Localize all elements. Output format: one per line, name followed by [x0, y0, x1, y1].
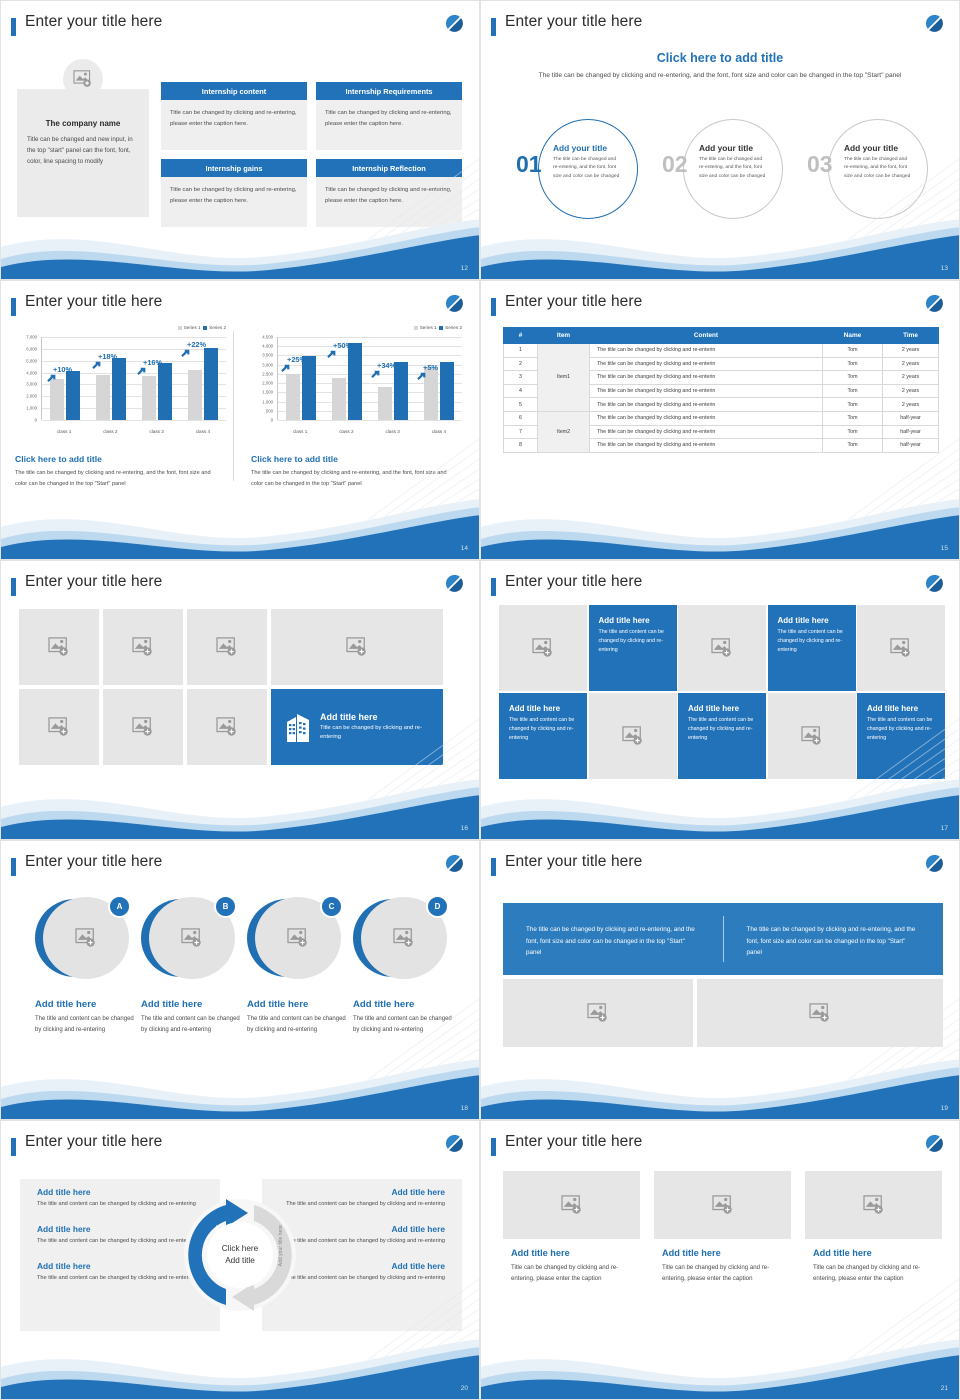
brand-logo-icon	[924, 573, 945, 594]
cta-title: Add title here	[320, 712, 429, 722]
media-card-3[interactable]: Add title hereTitle can be changed by cl…	[805, 1171, 942, 1285]
chart-2-heading: Click here to add title	[251, 454, 338, 464]
x-tick: class 2	[323, 429, 369, 434]
y-tick: 4,500	[262, 335, 273, 340]
cell-content: The title can be changed by clicking and…	[590, 425, 823, 439]
info-card-internship-content[interactable]: Internship content Title can be changed …	[161, 82, 307, 150]
cell-name: Tom	[823, 398, 883, 412]
slide-header: Enter your title here	[491, 1135, 945, 1161]
title-accent-bar	[491, 1138, 496, 1156]
image-placeholder-icon	[587, 1003, 609, 1023]
brand-logo-icon	[444, 293, 465, 314]
footer-wave	[481, 1337, 960, 1399]
bar-chart-2: Series 1 Series 2 0 500 1,000 1,500 2,00…	[251, 327, 466, 442]
bar-group	[278, 337, 324, 420]
image-placeholder-icon	[216, 717, 238, 737]
col-content: Content	[590, 328, 823, 344]
image-placeholder-icon	[809, 1003, 831, 1023]
trend-arrow-icon	[47, 374, 58, 383]
tile-title: Add title here	[867, 704, 935, 713]
image-placeholder[interactable]	[805, 1171, 942, 1239]
table-row[interactable]: 1Item1The title can be changed by clicki…	[504, 344, 939, 358]
y-tick: 7,000	[26, 335, 37, 340]
image-placeholder-right[interactable]	[697, 979, 943, 1047]
checkerboard-grid: Add title hereThe title and content can …	[499, 605, 945, 779]
card-text: Add title hereTitle can be changed by cl…	[654, 1239, 791, 1285]
arc-label-left: Add your title here	[215, 1225, 221, 1266]
info-card-internship-requirements[interactable]: Internship Requirements Title can be cha…	[316, 82, 462, 150]
cell-content: The title can be changed by clicking and…	[590, 344, 823, 358]
slide-13[interactable]: Enter your title here Click here to add …	[480, 0, 960, 280]
slide-header: Enter your title here	[491, 15, 945, 41]
footer-wave	[1, 777, 480, 839]
y-tick: 0	[35, 418, 37, 423]
caption-title: Add title here	[35, 999, 135, 1010]
footer-wave	[1, 497, 480, 559]
y-tick: 0	[271, 418, 273, 423]
card-header: Internship content	[161, 82, 307, 100]
image-placeholder-icon	[132, 637, 154, 657]
slide-header: Enter your title here	[11, 15, 465, 41]
card-body: Title can be changed by clicking and re-…	[511, 1262, 632, 1285]
arc-label-right: Add your title here	[278, 1225, 284, 1266]
y-tick: 1,000	[26, 406, 37, 411]
cell-index: 7	[504, 425, 538, 439]
trend-arrow-icon	[281, 364, 292, 373]
brand-logo-icon	[444, 573, 465, 594]
annotation-4: +22%	[187, 340, 206, 349]
cell-time: half-year	[883, 411, 939, 425]
slide-14[interactable]: Enter your title here Series 1 Series 2 …	[0, 280, 480, 560]
cell-time: 2 years	[883, 357, 939, 371]
image-placeholder-icon	[622, 726, 644, 746]
slide-15[interactable]: Enter your title here # Item Content Nam…	[480, 280, 960, 560]
table-row[interactable]: 6Item2The title can be changed by clicki…	[504, 411, 939, 425]
image-placeholder-icon	[393, 928, 415, 948]
circle-item-a[interactable]: A	[35, 897, 135, 979]
slide-header: Enter your title here	[491, 855, 945, 881]
image-placeholder[interactable]	[103, 689, 183, 765]
trend-arrow-icon	[327, 350, 338, 359]
trend-arrow-icon	[417, 372, 428, 381]
cell-content: The title can be changed by clicking and…	[590, 439, 823, 453]
slide-number: 12	[461, 265, 468, 272]
y-axis-2: 0 500 1,000 1,500 2,000 2,500 3,000 3,50…	[251, 337, 275, 420]
title-accent-bar	[11, 298, 16, 316]
content-tile[interactable]: Add title hereThe title and content can …	[678, 693, 766, 779]
image-placeholder[interactable]	[187, 689, 267, 765]
chart-1-heading: Click here to add title	[15, 454, 102, 464]
x-tick: class 4	[416, 429, 462, 434]
image-placeholder[interactable]	[499, 605, 587, 691]
step-number-03: 03	[807, 153, 833, 176]
annotation-3: +34%	[377, 361, 396, 370]
y-tick: 2,000	[262, 381, 273, 386]
footer-wave	[481, 1057, 960, 1119]
circle-item-d[interactable]: D	[353, 897, 453, 979]
step-number-01: 01	[516, 153, 542, 176]
col-index: #	[504, 328, 538, 344]
title-accent-bar	[491, 578, 496, 596]
tile-title: Add title here	[509, 704, 577, 713]
card-title: Add title here	[662, 1248, 783, 1258]
section-subheading: The title can be changed by clicking and…	[481, 71, 959, 82]
slide-header: Enter your title here	[491, 575, 945, 601]
cta-tile[interactable]: Add title here Title can be changed by c…	[271, 689, 443, 765]
cell-name: Tom	[823, 384, 883, 398]
step-body: The title can be changed and re-entering…	[553, 156, 621, 181]
caption-body: The title and content can be changed by …	[353, 1014, 453, 1036]
card-body: Title can be changed by clicking and re-…	[316, 177, 462, 227]
slide-number: 18	[461, 1105, 468, 1112]
cell-name: Tom	[823, 357, 883, 371]
cell-name: Tom	[823, 425, 883, 439]
plot-area-1	[41, 337, 226, 420]
image-placeholder-icon	[48, 717, 70, 737]
brand-logo-icon	[924, 13, 945, 34]
slide-12[interactable]: Enter your title here The company name T…	[0, 0, 480, 280]
image-placeholder-icon	[48, 637, 70, 657]
page-title: Enter your title here	[25, 13, 162, 31]
y-tick: 3,000	[26, 382, 37, 387]
x-tick: class 1	[277, 429, 323, 434]
cell-name: Tom	[823, 439, 883, 453]
annotation-2: +50%	[333, 341, 352, 350]
bars-2	[278, 337, 462, 420]
circle-caption-c: Add title here The title and content can…	[247, 999, 347, 1036]
slide-19[interactable]: Enter your title here The title can be c…	[480, 840, 960, 1120]
cell-name: Tom	[823, 344, 883, 358]
cell-time: 2 years	[883, 398, 939, 412]
chart-legend-1: Series 1 Series 2	[178, 325, 226, 330]
legend-series-1: Series 1	[184, 325, 201, 330]
page-title: Enter your title here	[25, 573, 162, 591]
card-body: Title can be changed by clicking and re-…	[161, 177, 307, 227]
cell-index: 3	[504, 371, 538, 385]
y-axis-1: 0 1,000 2,000 3,000 4,000 5,000 6,000 7,…	[15, 337, 39, 420]
cell-index: 2	[504, 357, 538, 371]
footer-wave	[481, 497, 960, 559]
slide-number: 15	[941, 545, 948, 552]
badge-letter: D	[426, 895, 449, 918]
image-placeholder[interactable]	[503, 1171, 640, 1239]
y-tick: 1,000	[262, 399, 273, 404]
brand-logo-icon	[924, 1133, 945, 1154]
page-title: Enter your title here	[25, 853, 162, 871]
slide-21[interactable]: Enter your title here Add title hereTitl…	[480, 1120, 960, 1400]
slide-number: 21	[941, 1385, 948, 1392]
tile-body: The title and content can be changed by …	[778, 628, 846, 655]
card-body: Title can be changed by clicking and re-…	[161, 100, 307, 150]
title-accent-bar	[491, 18, 496, 36]
banner-row: The title can be changed by clicking and…	[503, 903, 943, 975]
slide-number: 19	[941, 1105, 948, 1112]
slide-16[interactable]: Enter your title here Add title here Tit…	[0, 560, 480, 840]
trend-arrow-icon	[92, 361, 103, 370]
brand-logo-icon	[924, 293, 945, 314]
badge-letter: B	[214, 895, 237, 918]
image-placeholder-icon	[287, 928, 309, 948]
center-line-2: Add title	[225, 1255, 255, 1267]
image-placeholder[interactable]	[768, 693, 856, 779]
brand-logo-icon	[444, 853, 465, 874]
circle-caption-d: Add title here The title and content can…	[353, 999, 453, 1036]
cell-name: Tom	[823, 371, 883, 385]
y-tick: 2,500	[262, 371, 273, 376]
company-body: Title can be changed and new input, in t…	[27, 135, 139, 168]
trend-arrow-icon	[371, 370, 382, 379]
x-tick: class 2	[87, 429, 133, 434]
tile-body: The title and content can be changed by …	[688, 716, 756, 743]
tile-title: Add title here	[599, 616, 667, 625]
info-card-internship-gains[interactable]: Internship gains Title can be changed by…	[161, 159, 307, 227]
cell-index: 1	[504, 344, 538, 358]
bar-group	[134, 337, 180, 420]
image-placeholder-icon	[711, 638, 733, 658]
image-placeholder-icon	[346, 637, 368, 657]
step-text-03: Add your title The title can be changed …	[844, 143, 912, 181]
slide-20[interactable]: Enter your title here Add title hereThe …	[0, 1120, 480, 1400]
cell-time: 2 years	[883, 344, 939, 358]
col-item: Item	[538, 328, 590, 344]
step-body: The title can be changed and re-entering…	[844, 156, 912, 181]
legend-series-2: Series 2	[445, 325, 462, 330]
slide-header: Enter your title here	[11, 1135, 465, 1161]
step-text-01: Add your title The title can be changed …	[553, 143, 621, 181]
page-title: Enter your title here	[25, 293, 162, 311]
footer-wave	[1, 1337, 480, 1399]
info-card-internship-reflection[interactable]: Internship Reflection Title can be chang…	[316, 159, 462, 227]
bar-chart-1: Series 1 Series 2 0 1,000 2,000 3,000 4,…	[15, 327, 230, 442]
step-body: The title can be changed and re-entering…	[699, 156, 767, 181]
chart-legend-2: Series 1 Series 2	[414, 325, 462, 330]
footer-wave	[481, 217, 960, 279]
chart-1-body: The title can be changed by clicking and…	[15, 468, 215, 489]
x-axis-2: class 1 class 2 class 3 class 4	[277, 429, 462, 434]
image-placeholder[interactable]	[678, 605, 766, 691]
cell-time: 2 years	[883, 384, 939, 398]
image-placeholder[interactable]	[103, 609, 183, 685]
y-tick: 4,000	[262, 344, 273, 349]
slide-number: 17	[941, 825, 948, 832]
cell-content: The title can be changed by clicking and…	[590, 411, 823, 425]
slide-number: 20	[461, 1385, 468, 1392]
trend-arrow-icon	[181, 349, 192, 358]
content-tile[interactable]: Add title hereThe title and content can …	[589, 605, 677, 691]
annotation-4: +5%	[423, 363, 438, 372]
card-text: Add title hereTitle can be changed by cl…	[503, 1239, 640, 1285]
slide-header: Enter your title here	[11, 855, 465, 881]
card-body: Title can be changed by clicking and re-…	[662, 1262, 783, 1285]
caption-body: The title and content can be changed by …	[35, 1014, 135, 1036]
legend-series-2: Series 2	[209, 325, 226, 330]
image-placeholder-icon	[181, 928, 203, 948]
table-header-row: # Item Content Name Time	[504, 328, 939, 344]
section-heading: Click here to add title	[481, 51, 959, 65]
annotation-2: +18%	[98, 352, 117, 361]
x-tick: class 4	[180, 429, 226, 434]
slide-number: 16	[461, 825, 468, 832]
title-accent-bar	[491, 298, 496, 316]
badge-letter: A	[108, 895, 131, 918]
title-accent-bar	[11, 1138, 16, 1156]
image-placeholder[interactable]	[19, 609, 99, 685]
y-tick: 500	[266, 408, 273, 413]
cell-content: The title can be changed by clicking and…	[590, 384, 823, 398]
card-body: Title can be changed by clicking and re-…	[813, 1262, 934, 1285]
brand-logo-icon	[924, 853, 945, 874]
slide-header: Enter your title here	[11, 575, 465, 601]
content-tile[interactable]: Add title hereThe title and content can …	[857, 693, 945, 779]
image-grid: Add title here Title can be changed by c…	[19, 609, 443, 765]
circle-caption-a: Add title here The title and content can…	[35, 999, 135, 1036]
image-placeholder[interactable]	[19, 689, 99, 765]
media-card-1[interactable]: Add title hereTitle can be changed by cl…	[503, 1171, 640, 1285]
image-placeholder-icon	[890, 638, 912, 658]
step-title: Add your title	[553, 143, 621, 153]
card-text: Add title hereTitle can be changed by cl…	[805, 1239, 942, 1285]
page-title: Enter your title here	[505, 573, 642, 591]
company-panel: The company name Title can be changed an…	[17, 89, 149, 217]
image-placeholder[interactable]	[589, 693, 677, 779]
title-accent-bar	[11, 858, 16, 876]
card-header: Internship Reflection	[316, 159, 462, 177]
circle-caption-b: Add title here The title and content can…	[141, 999, 241, 1036]
step-title: Add your title	[699, 143, 767, 153]
tile-body: The title and content can be changed by …	[599, 628, 667, 655]
page-title: Enter your title here	[505, 13, 642, 31]
y-tick: 4,000	[26, 370, 37, 375]
step-number-02: 02	[662, 153, 688, 176]
y-tick: 2,000	[26, 394, 37, 399]
cell-index: 8	[504, 439, 538, 453]
y-tick: 1,500	[262, 390, 273, 395]
image-placeholder-icon	[75, 928, 97, 948]
badge-letter: C	[320, 895, 343, 918]
image-placeholder-icon	[863, 1195, 885, 1215]
col-name: Name	[823, 328, 883, 344]
title-accent-bar	[11, 578, 16, 596]
title-accent-bar	[491, 858, 496, 876]
image-placeholder-circle[interactable]	[63, 59, 103, 99]
cell-content: The title can be changed by clicking and…	[590, 371, 823, 385]
x-tick: class 1	[41, 429, 87, 434]
image-placeholder[interactable]	[187, 609, 267, 685]
caption-title: Add title here	[141, 999, 241, 1010]
cell-content: The title can be changed by clicking and…	[590, 357, 823, 371]
image-placeholder-icon	[801, 726, 823, 746]
brand-logo-icon	[444, 13, 465, 34]
y-tick: 3,500	[262, 353, 273, 358]
caption-title: Add title here	[353, 999, 453, 1010]
chart-2-body: The title can be changed by clicking and…	[251, 468, 451, 489]
image-placeholder-wide[interactable]	[271, 609, 443, 685]
cell-item: Item1	[538, 344, 590, 412]
slide-number: 14	[461, 545, 468, 552]
banner-text-left: The title can be changed by clicking and…	[503, 903, 723, 975]
center-line-1: Click here	[222, 1243, 258, 1255]
vertical-divider	[233, 331, 234, 481]
image-placeholder[interactable]	[654, 1171, 791, 1239]
title-accent-bar	[11, 18, 16, 36]
legend-series-1: Series 1	[420, 325, 437, 330]
cta-text: Add title here Title can be changed by c…	[320, 712, 429, 743]
footer-wave	[1, 1057, 480, 1119]
slide-header: Enter your title here	[491, 295, 945, 321]
image-placeholder[interactable]	[857, 605, 945, 691]
card-title: Add title here	[511, 1248, 632, 1258]
image-placeholder-icon	[532, 638, 554, 658]
image-placeholder-icon	[561, 1195, 583, 1215]
y-tick: 6,000	[26, 346, 37, 351]
page-title: Enter your title here	[505, 1133, 642, 1151]
data-table[interactable]: # Item Content Name Time 1Item1The title…	[503, 327, 939, 453]
cell-content: The title can be changed by clicking and…	[590, 398, 823, 412]
cell-name: Tom	[823, 411, 883, 425]
y-tick: 5,000	[26, 358, 37, 363]
content-tile[interactable]: Add title hereThe title and content can …	[499, 693, 587, 779]
annotation-1: +25%	[287, 355, 306, 364]
image-placeholder-left[interactable]	[503, 979, 693, 1047]
cycle-center-label[interactable]: Click here Add title	[164, 1189, 316, 1321]
media-card-2[interactable]: Add title hereTitle can be changed by cl…	[654, 1171, 791, 1285]
x-tick: class 3	[370, 429, 416, 434]
card-header: Internship Requirements	[316, 82, 462, 100]
building-icon	[285, 712, 311, 742]
cell-index: 6	[504, 411, 538, 425]
step-text-02: Add your title The title can be changed …	[699, 143, 767, 181]
caption-body: The title and content can be changed by …	[247, 1014, 347, 1036]
page-title: Enter your title here	[25, 1133, 162, 1151]
tile-title: Add title here	[688, 704, 756, 713]
brand-logo-icon	[444, 1133, 465, 1154]
tile-body: The title and content can be changed by …	[867, 716, 935, 743]
cell-index: 4	[504, 384, 538, 398]
tile-title: Add title here	[778, 616, 846, 625]
y-tick: 3,000	[262, 362, 273, 367]
tile-body: The title and content can be changed by …	[509, 716, 577, 743]
caption-body: The title and content can be changed by …	[141, 1014, 241, 1036]
slide-number: 13	[941, 265, 948, 272]
slide-deck: Enter your title here The company name T…	[0, 0, 960, 1400]
bars-1	[42, 337, 226, 420]
x-axis-1: class 1 class 2 class 3 class 4	[41, 429, 226, 434]
slide-18[interactable]: Enter your title here A Add title here T…	[0, 840, 480, 1120]
card-title: Add title here	[813, 1248, 934, 1258]
cta-body: Title can be changed by clicking and re-…	[320, 724, 429, 743]
x-tick: class 3	[134, 429, 180, 434]
slide-17[interactable]: Enter your title here Add title hereThe …	[480, 560, 960, 840]
company-name: The company name	[27, 119, 139, 128]
cell-time: half-year	[883, 425, 939, 439]
page-title: Enter your title here	[505, 293, 642, 311]
cell-time: half-year	[883, 439, 939, 453]
plot-area-2	[277, 337, 462, 420]
bar-group	[88, 337, 134, 420]
card-header: Internship gains	[161, 159, 307, 177]
circle-item-b[interactable]: B	[141, 897, 241, 979]
cell-time: 2 years	[883, 371, 939, 385]
annotation-3: +16%	[143, 358, 162, 367]
circle-item-c[interactable]: C	[247, 897, 347, 979]
col-time: Time	[883, 328, 939, 344]
annotation-1: +10%	[53, 365, 72, 374]
cell-item: Item2	[538, 411, 590, 452]
footer-wave	[481, 777, 960, 839]
content-tile[interactable]: Add title hereThe title and content can …	[768, 605, 856, 691]
banner-text-right: The title can be changed by clicking and…	[724, 903, 944, 975]
image-placeholder-icon	[216, 637, 238, 657]
